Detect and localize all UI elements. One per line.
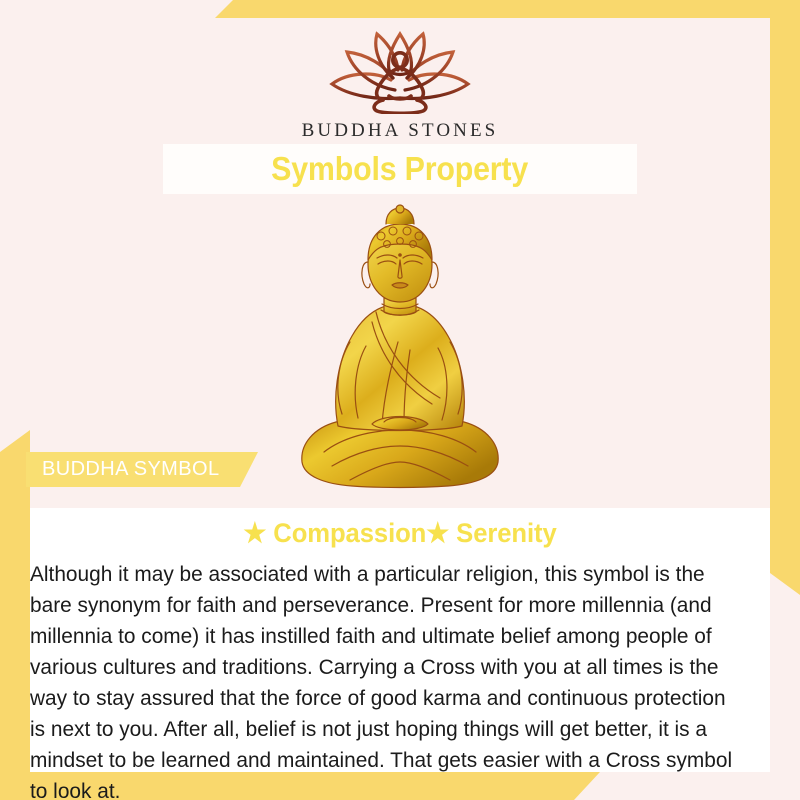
content-panel: ★ Compassion★ Serenity Although it may b… xyxy=(30,508,770,772)
buddha-symbol-tag-label: BUDDHA SYMBOL xyxy=(42,458,219,481)
hero-image xyxy=(0,196,800,496)
golden-buddha-statue-image xyxy=(280,200,520,496)
decorative-band-top xyxy=(215,0,800,18)
brand-name: BUDDHA STONES xyxy=(0,120,800,142)
poster-root: BUDDHA STONES Symbols Property xyxy=(0,0,800,800)
section-subtitle: ★ Compassion★ Serenity xyxy=(49,508,752,549)
page-title: Symbols Property xyxy=(272,150,529,188)
brand-logo: BUDDHA STONES xyxy=(0,26,800,142)
title-banner: Symbols Property xyxy=(163,144,637,194)
buddha-symbol-tag: BUDDHA SYMBOL xyxy=(26,452,258,487)
lotus-meditation-icon xyxy=(305,26,495,114)
section-body-text: Although it may be associated with a par… xyxy=(30,549,748,800)
